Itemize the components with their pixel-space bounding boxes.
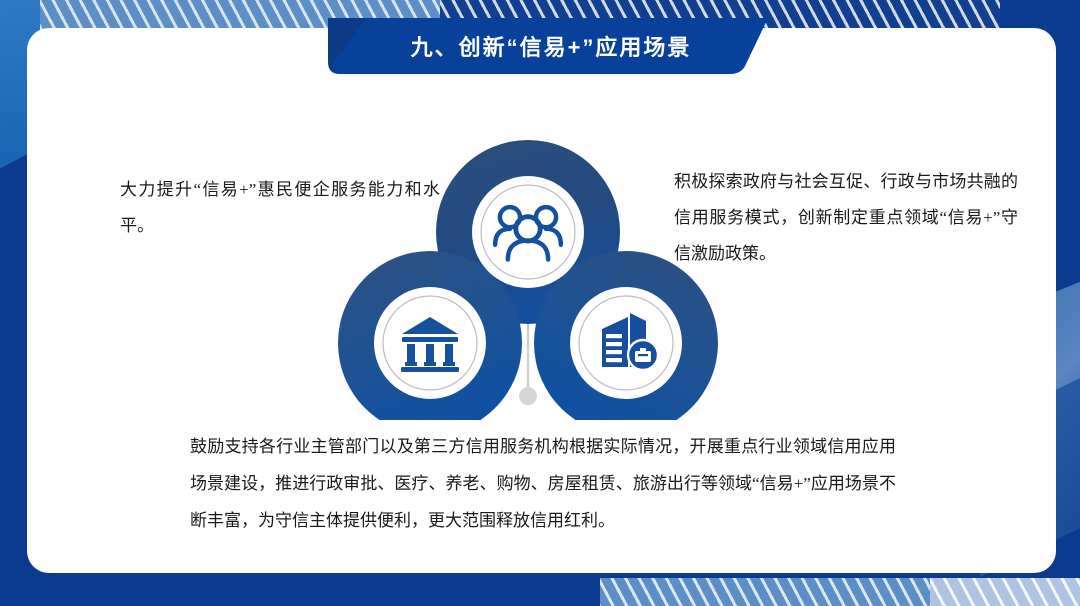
donut-hole-left <box>374 287 486 399</box>
callout-left-text: 大力提升“信易+”惠民便企服务能力和水平。 <box>120 172 440 244</box>
hatch-stripes-bottom-pale <box>930 578 1080 606</box>
callout-right-text: 积极探索政府与社会互促、行政与市场共融的信用服务模式，创新制定重点领域“信易+”… <box>674 164 1018 272</box>
hatch-stripes-bottom <box>600 578 960 606</box>
slide-canvas: 九、创新“信易+”应用场景 <box>0 0 1080 606</box>
donut-hole-top <box>472 176 584 288</box>
callout-bottom-text: 鼓励支持各行业主管部门以及第三方信用服务机构根据实际情况，开展重点行业领域信用应… <box>190 428 896 539</box>
page-title: 九、创新“信易+”应用场景 <box>328 18 768 74</box>
header-banner: 九、创新“信易+”应用场景 <box>328 18 768 74</box>
